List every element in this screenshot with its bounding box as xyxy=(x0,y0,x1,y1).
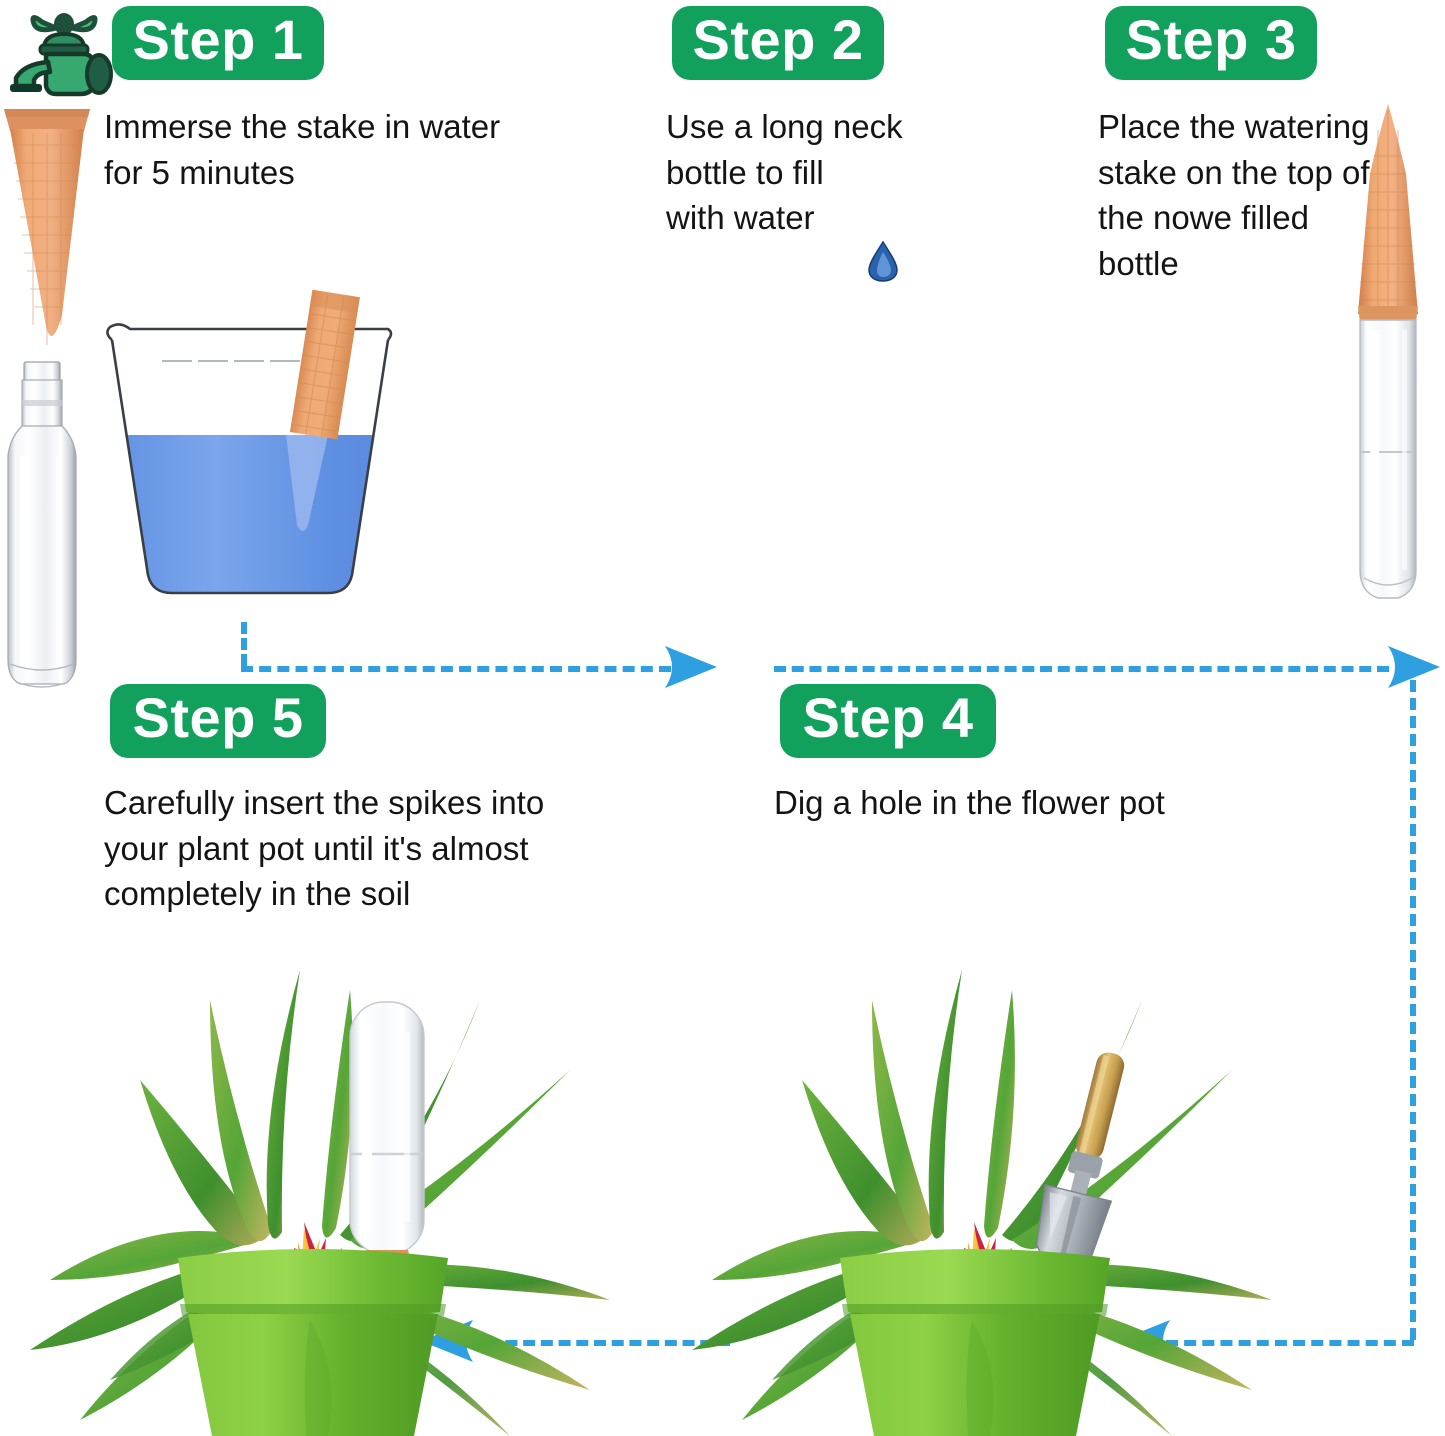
step-2-text: Use a long neck bottle to fill with wate… xyxy=(666,104,996,241)
step-4-badge: Step 4 xyxy=(780,684,996,758)
flow-line-step1-to-step2 xyxy=(241,666,671,672)
step-1-badge: Step 1 xyxy=(112,6,324,80)
arrow-step1-to-step2 xyxy=(663,644,719,690)
water-droplet-icon xyxy=(866,240,900,287)
step-2-badge: Step 2 xyxy=(672,6,884,80)
step-5-badge: Step 5 xyxy=(110,684,326,758)
potted-plant-with-trowel-icon xyxy=(672,880,1292,1436)
potted-plant-with-watering-bottle-icon xyxy=(10,880,630,1436)
flow-line-down-right-edge xyxy=(1410,680,1416,1340)
flow-line-down-from-beaker xyxy=(241,622,247,666)
step-3-badge: Step 3 xyxy=(1105,6,1317,80)
assembled-stake-on-bottle-icon xyxy=(1336,100,1440,625)
step-4-text: Dig a hole in the flower pot xyxy=(774,780,1274,826)
instruction-infographic: Step 1 Immerse the stake in water for 5 … xyxy=(0,0,1445,1436)
step-1-text: Immerse the stake in water for 5 minutes xyxy=(104,104,584,195)
flow-line-step2-to-step3 xyxy=(774,666,1389,672)
beaker-with-stake-icon xyxy=(100,285,430,635)
